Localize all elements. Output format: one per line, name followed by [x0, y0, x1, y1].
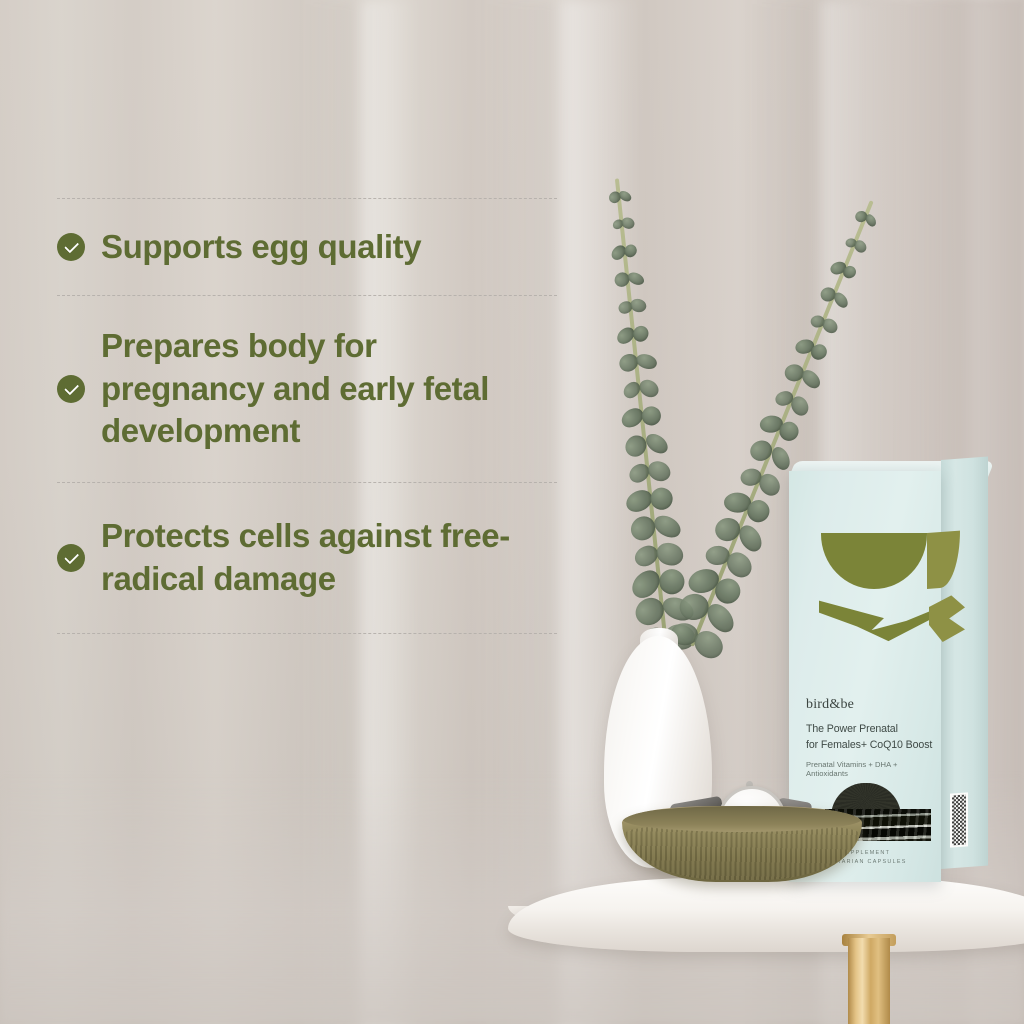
- benefit-row-1: Supports egg quality: [57, 199, 557, 295]
- product-tagline: Prenatal Vitamins + DHA + Antioxidants: [806, 760, 941, 778]
- product-marketing-image: bird&be The Power Prenatal for Females+ …: [0, 0, 1024, 1024]
- benefit-text-2: Prepares body for pregnancy and early fe…: [101, 325, 521, 454]
- benefit-row-3: Protects cells against free-radical dama…: [57, 483, 557, 633]
- brand-name: bird&be: [806, 697, 854, 713]
- bird-and-be-logo-bowl-icon: [821, 533, 927, 589]
- check-circle-icon: [57, 233, 85, 261]
- bird-and-be-logo-branch-icon: [819, 597, 931, 643]
- product-name-line-2: for Females+ CoQ10 Boost: [806, 737, 932, 753]
- product-name: The Power Prenatal for Females+ CoQ10 Bo…: [806, 721, 932, 753]
- marble-table-top: [508, 878, 1024, 952]
- benefits-list: Supports egg quality Prepares body for p…: [57, 198, 557, 634]
- benefit-divider: [57, 633, 557, 634]
- qr-code-label: [950, 792, 968, 847]
- check-circle-icon: [57, 375, 85, 403]
- benefit-text-3: Protects cells against free-radical dama…: [101, 515, 531, 601]
- brass-table-leg: [848, 938, 890, 1024]
- product-name-line-1: The Power Prenatal: [806, 721, 932, 737]
- benefit-row-2: Prepares body for pregnancy and early fe…: [57, 296, 557, 482]
- check-circle-icon: [57, 544, 85, 572]
- qr-code-icon: [952, 794, 966, 845]
- benefit-text-1: Supports egg quality: [101, 226, 421, 269]
